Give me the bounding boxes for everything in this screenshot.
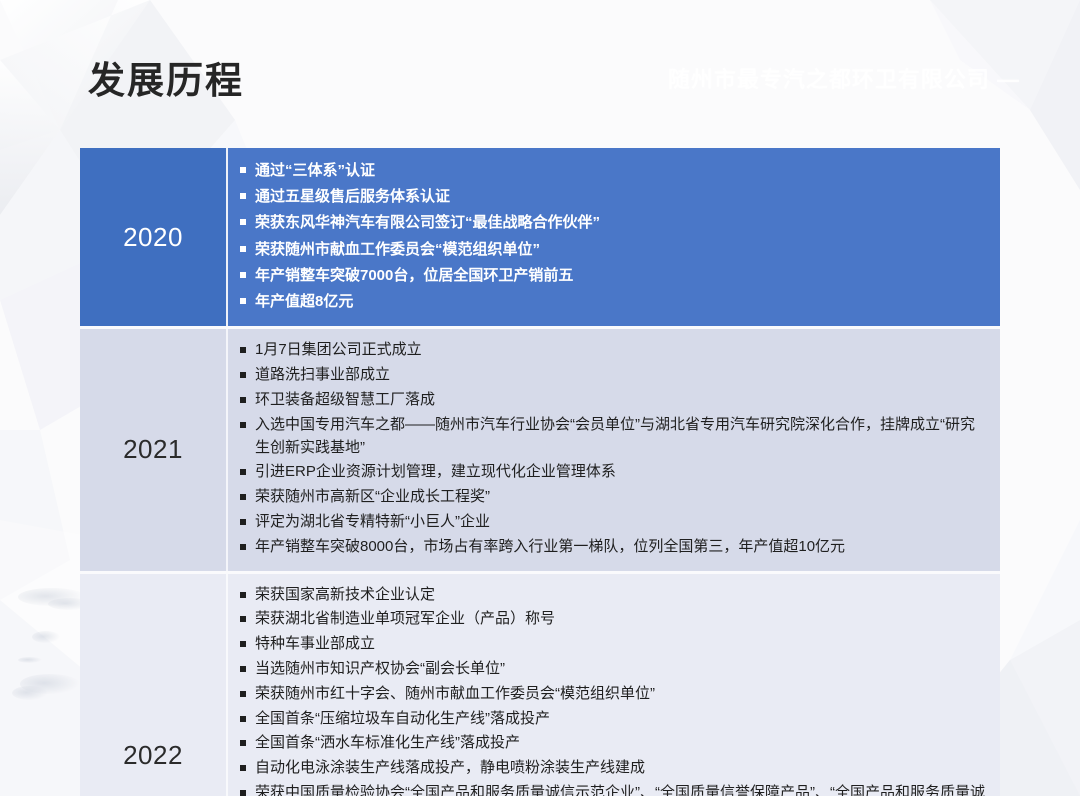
- list-item: 荣获中国质量检验协会“全国产品和服务质量诚信示范企业”、“全国质量信誉保障产品”…: [240, 782, 986, 796]
- list-item-text: 当选随州市知识产权协会“副会长单位”: [255, 658, 986, 681]
- list-item-text: 荣获国家高新技术企业认定: [255, 584, 986, 607]
- square-bullet-icon: [240, 347, 246, 353]
- list-item: 当选随州市知识产权协会“副会长单位”: [240, 658, 986, 681]
- square-bullet-icon: [240, 372, 246, 378]
- list-item-text: 荣获湖北省制造业单项冠军企业（产品）称号: [255, 608, 986, 631]
- list-item: 荣获国家高新技术企业认定: [240, 584, 986, 607]
- list-item: 年产销整车突破7000台，位居全国环卫产销前五: [240, 264, 986, 287]
- square-bullet-icon: [240, 298, 246, 304]
- list-item: 环卫装备超级智慧工厂落成: [240, 389, 986, 412]
- list-item-text: 荣获东风华神汽车有限公司签订“最佳战略合作伙伴”: [255, 211, 986, 234]
- list-item-text: 荣获随州市红十字会、随州市献血工作委员会“模范组织单位”: [255, 683, 986, 706]
- list-item: 自动化电泳涂装生产线落成投产，静电喷粉涂装生产线建成: [240, 757, 986, 780]
- list-item-text: 年产销整车突破7000台，位居全国环卫产销前五: [255, 264, 986, 287]
- square-bullet-icon: [240, 790, 246, 796]
- list-item-text: 环卫装备超级智慧工厂落成: [255, 389, 986, 412]
- list-item-text: 自动化电泳涂装生产线落成投产，静电喷粉涂装生产线建成: [255, 757, 986, 780]
- square-bullet-icon: [240, 519, 246, 525]
- list-item: 道路洗扫事业部成立: [240, 364, 986, 387]
- list-item: 评定为湖北省专精特新“小巨人”企业: [240, 511, 986, 534]
- list-item: 荣获随州市高新区“企业成长工程奖”: [240, 486, 986, 509]
- list-item: 年产销整车突破8000台，市场占有率跨入行业第一梯队，位列全国第三，年产值超10…: [240, 536, 986, 559]
- list-item: 入选中国专用汽车之都——随州市汽车行业协会“会员单位”与湖北省专用汽车研究院深化…: [240, 414, 986, 460]
- development-timeline: 2020通过“三体系”认证通过五星级售后服务体系认证荣获东风华神汽车有限公司签订…: [80, 148, 1000, 796]
- list-item-text: 特种车事业部成立: [255, 633, 986, 656]
- timeline-row: 2022荣获国家高新技术企业认定荣获湖北省制造业单项冠军企业（产品）称号特种车事…: [80, 574, 1000, 796]
- achievement-list-2022: 荣获国家高新技术企业认定荣获湖北省制造业单项冠军企业（产品）称号特种车事业部成立…: [228, 574, 1000, 796]
- list-item-text: 全国首条“洒水车标准化生产线”落成投产: [255, 732, 986, 755]
- timeline-row: 20211月7日集团公司正式成立道路洗扫事业部成立环卫装备超级智慧工厂落成入选中…: [80, 329, 1000, 570]
- page-title: 发展历程: [88, 50, 244, 104]
- square-bullet-icon: [240, 272, 246, 278]
- list-item: 特种车事业部成立: [240, 633, 986, 656]
- list-item-text: 荣获随州市高新区“企业成长工程奖”: [255, 486, 986, 509]
- list-item: 荣获随州市献血工作委员会“模范组织单位”: [240, 238, 986, 261]
- list-item: 引进ERP企业资源计划管理，建立现代化企业管理体系: [240, 461, 986, 484]
- square-bullet-icon: [240, 246, 246, 252]
- list-item-text: 1月7日集团公司正式成立: [255, 339, 986, 362]
- list-item: 年产值超8亿元: [240, 290, 986, 313]
- year-label-2022: 2022: [80, 574, 228, 796]
- square-bullet-icon: [240, 616, 246, 622]
- list-item-text: 全国首条“压缩垃圾车自动化生产线”落成投产: [255, 708, 986, 731]
- list-item-text: 引进ERP企业资源计划管理，建立现代化企业管理体系: [255, 461, 986, 484]
- list-item-text: 年产销整车突破8000台，市场占有率跨入行业第一梯队，位列全国第三，年产值超10…: [255, 536, 986, 559]
- list-item-text: 入选中国专用汽车之都——随州市汽车行业协会“会员单位”与湖北省专用汽车研究院深化…: [255, 414, 986, 460]
- square-bullet-icon: [240, 494, 246, 500]
- list-item-text: 荣获随州市献血工作委员会“模范组织单位”: [255, 238, 986, 261]
- list-item: 全国首条“压缩垃圾车自动化生产线”落成投产: [240, 708, 986, 731]
- list-item-text: 评定为湖北省专精特新“小巨人”企业: [255, 511, 986, 534]
- list-item: 全国首条“洒水车标准化生产线”落成投产: [240, 732, 986, 755]
- list-item-text: 道路洗扫事业部成立: [255, 364, 986, 387]
- achievement-list-2021: 1月7日集团公司正式成立道路洗扫事业部成立环卫装备超级智慧工厂落成入选中国专用汽…: [228, 329, 1000, 570]
- square-bullet-icon: [240, 422, 246, 428]
- square-bullet-icon: [240, 666, 246, 672]
- square-bullet-icon: [240, 691, 246, 697]
- square-bullet-icon: [240, 544, 246, 550]
- square-bullet-icon: [240, 765, 246, 771]
- list-item: 通过五星级售后服务体系认证: [240, 185, 986, 208]
- list-item: 荣获东风华神汽车有限公司签订“最佳战略合作伙伴”: [240, 211, 986, 234]
- year-label-2020: 2020: [80, 148, 228, 326]
- square-bullet-icon: [240, 740, 246, 746]
- list-item: 荣获随州市红十字会、随州市献血工作委员会“模范组织单位”: [240, 683, 986, 706]
- list-item-text: 通过“三体系”认证: [255, 159, 986, 182]
- square-bullet-icon: [240, 641, 246, 647]
- square-bullet-icon: [240, 167, 246, 173]
- list-item-text: 年产值超8亿元: [255, 290, 986, 313]
- square-bullet-icon: [240, 469, 246, 475]
- square-bullet-icon: [240, 219, 246, 225]
- list-item: 通过“三体系”认证: [240, 159, 986, 182]
- square-bullet-icon: [240, 592, 246, 598]
- list-item: 1月7日集团公司正式成立: [240, 339, 986, 362]
- square-bullet-icon: [240, 716, 246, 722]
- timeline-row: 2020通过“三体系”认证通过五星级售后服务体系认证荣获东风华神汽车有限公司签订…: [80, 148, 1000, 326]
- watermark-text: 随州市最专汽之都环卫有限公司 —: [668, 62, 1020, 94]
- list-item: 荣获湖北省制造业单项冠军企业（产品）称号: [240, 608, 986, 631]
- year-label-2021: 2021: [80, 329, 228, 570]
- square-bullet-icon: [240, 397, 246, 403]
- list-item-text: 通过五星级售后服务体系认证: [255, 185, 986, 208]
- square-bullet-icon: [240, 193, 246, 199]
- list-item-text: 荣获中国质量检验协会“全国产品和服务质量诚信示范企业”、“全国质量信誉保障产品”…: [255, 782, 986, 796]
- achievement-list-2020: 通过“三体系”认证通过五星级售后服务体系认证荣获东风华神汽车有限公司签订“最佳战…: [228, 148, 1000, 326]
